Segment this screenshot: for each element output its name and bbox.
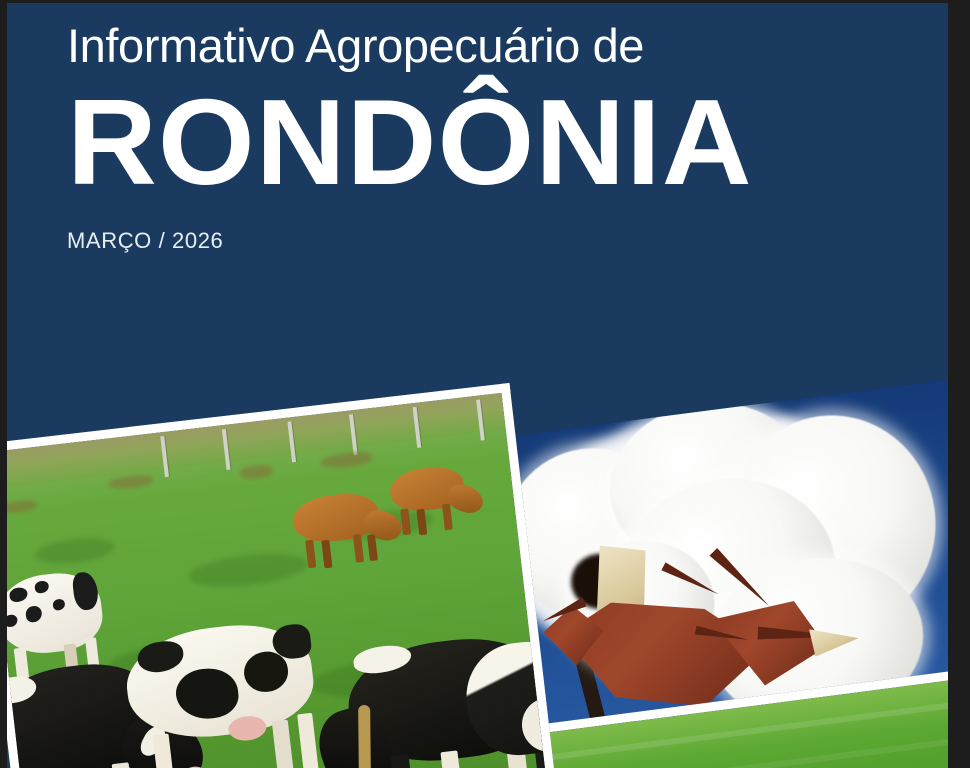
pasture-scene	[7, 393, 549, 768]
cow-leg	[367, 534, 378, 561]
cow-leg	[353, 534, 364, 563]
cover-date: MARÇO / 2026	[67, 228, 887, 254]
grass-tuft	[34, 534, 116, 567]
cow-leg	[416, 509, 427, 536]
cow-leg	[272, 720, 296, 768]
dirt-patch	[320, 450, 373, 470]
cover-page: Informativo Agropecuário de RONDÔNIA MAR…	[7, 3, 948, 768]
cover-subtitle: Informativo Agropecuário de	[67, 21, 887, 72]
dirt-patch	[7, 499, 38, 515]
cow-brown-left	[289, 480, 406, 574]
photo-dairy-cattle	[7, 383, 558, 768]
cow-collar	[358, 705, 371, 768]
dirt-patch	[238, 464, 273, 481]
cow-brown-right	[387, 457, 491, 546]
page-title: RONDÔNIA	[67, 86, 903, 198]
dirt-patch	[107, 474, 154, 491]
cow-leg	[442, 504, 453, 531]
cover-frame: Informativo Agropecuário de RONDÔNIA MAR…	[0, 0, 970, 768]
cow-leg	[400, 508, 411, 535]
cow-leg	[305, 540, 316, 569]
photo-collage	[7, 333, 948, 768]
cow-leg	[153, 733, 177, 768]
cover-header: Informativo Agropecuário de RONDÔNIA MAR…	[67, 21, 887, 254]
cow-leg	[321, 540, 332, 569]
grass-tuft	[187, 548, 310, 592]
